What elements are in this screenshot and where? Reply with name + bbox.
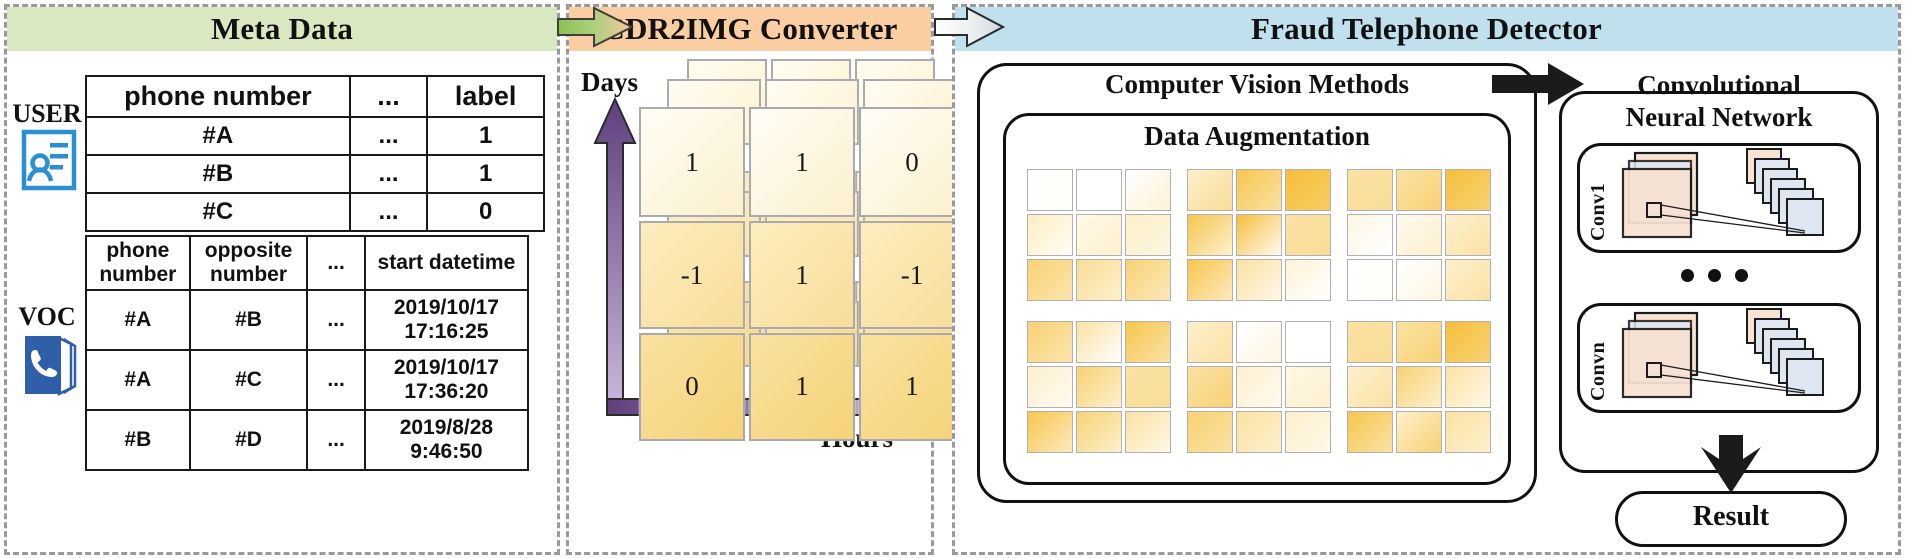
conv1-layer-diagram: [1621, 147, 1857, 249]
cell-phone-number: #C: [86, 193, 350, 231]
augmented-image-grid: [1347, 321, 1491, 453]
matrix-cell: -1: [859, 221, 965, 329]
matrix-cell: 1: [749, 333, 855, 441]
cell-phone-number: #B: [86, 410, 190, 470]
panel-fraud-telephone-detector: Fraud Telephone Detector Computer Vision…: [952, 4, 1901, 555]
cell-start-datetime: 2019/10/17 17:16:25: [365, 290, 528, 350]
user-table: phone number ... label #A ... 1 #B ... 1…: [85, 75, 545, 232]
table-header-row: phone number ... label: [86, 76, 544, 117]
detector-content: Computer Vision Methods Data Augmentatio…: [955, 51, 1904, 558]
phone-records-icon: [21, 332, 79, 398]
matrix-cell: 1: [749, 221, 855, 329]
matrix-cell-value: 1: [751, 147, 853, 178]
cell-opposite-number: #C: [190, 350, 308, 410]
panel-detector-title: Fraud Telephone Detector: [955, 7, 1898, 51]
augmented-image-grid: [1187, 169, 1331, 301]
matrix-cell-value: 0: [861, 147, 963, 178]
cell-opposite-number: #B: [190, 290, 308, 350]
arrow-converter-to-detector: [933, 6, 1005, 48]
cell-start-datetime: 2019/8/28 9:46:50: [365, 410, 528, 470]
conv1-label: Conv1: [1587, 155, 1610, 241]
result-label: Result: [1615, 501, 1847, 533]
matrix-cell-value: 1: [751, 371, 853, 402]
col-start-datetime: start datetime: [365, 236, 528, 290]
cell-ellipsis: ...: [350, 155, 428, 193]
ellipsis-dots: [1681, 269, 1748, 282]
matrix-cell-value: 0: [641, 371, 743, 402]
table-row: #A #C ... 2019/10/17 17:36:20: [86, 350, 528, 410]
cell-start-datetime: 2019/10/17 17:36:20: [365, 350, 528, 410]
convolutional-neural-network-label: Convolutional Neural Network: [1559, 69, 1879, 133]
matrix-cell-value: -1: [861, 260, 963, 291]
table-header-row: phone number opposite number ... start d…: [86, 236, 528, 290]
table-row: #A #B ... 2019/10/17 17:16:25: [86, 290, 528, 350]
cell-ellipsis: ...: [307, 290, 364, 350]
cell-label: 1: [427, 117, 544, 155]
cell-phone-number: #B: [86, 155, 350, 193]
cell-ellipsis: ...: [307, 350, 364, 410]
col-phone-number: phone number: [86, 76, 350, 117]
col-phone-number: phone number: [86, 236, 190, 290]
cell-label: 1: [427, 155, 544, 193]
voc-row-label: VOC: [9, 302, 85, 332]
arrow-meta-to-converter: [556, 6, 634, 48]
table-row: #B ... 1: [86, 155, 544, 193]
col-opposite-number: opposite number: [190, 236, 308, 290]
computer-vision-methods-label: Computer Vision Methods: [977, 69, 1537, 100]
cell-ellipsis: ...: [307, 410, 364, 470]
matrix-cell: 1: [749, 107, 855, 217]
convn-layer-diagram: [1621, 307, 1857, 409]
matrix-cell: -1: [639, 221, 745, 329]
cell-phone-number: #A: [86, 350, 190, 410]
table-row: #C ... 0: [86, 193, 544, 231]
matrix-cell: 1: [639, 107, 745, 217]
col-ellipsis: ...: [350, 76, 428, 117]
diagram-canvas: Meta Data USER phone number ... label: [0, 0, 1905, 559]
matrix-cell: 0: [859, 107, 965, 217]
panel-cdr2img-converter: CDR2IMG Converter Days Hours: [566, 4, 934, 555]
augmented-image-grid: [1027, 169, 1171, 301]
convn-label: Convn: [1587, 315, 1610, 401]
cell-ellipsis: ...: [350, 117, 428, 155]
matrix-cell-value: 1: [751, 260, 853, 291]
matrix-cell-value: 1: [641, 147, 743, 178]
black-down-arrow-icon: [1695, 435, 1767, 495]
data-augmentation-label: Data Augmentation: [1003, 121, 1511, 152]
cell-label: 0: [427, 193, 544, 231]
cell-opposite-number: #D: [190, 410, 308, 470]
matrix-cell-value: -1: [641, 260, 743, 291]
augmented-image-grid: [1187, 321, 1331, 453]
cdr-image-cube: 1 1 0 -1 1 -1: [647, 53, 937, 403]
converter-content: Days Hours: [569, 51, 937, 558]
cell-phone-number: #A: [86, 117, 350, 155]
user-card-icon: [21, 129, 77, 191]
cell-ellipsis: ...: [350, 193, 428, 231]
col-label: label: [427, 76, 544, 117]
cell-phone-number: #A: [86, 290, 190, 350]
voc-table: phone number opposite number ... start d…: [85, 235, 529, 471]
augmented-image-grid: [1347, 169, 1491, 301]
col-ellipsis: ...: [307, 236, 364, 290]
matrix-cell: 0: [639, 333, 745, 441]
panel-meta-data: Meta Data USER phone number ... label: [4, 4, 560, 555]
matrix-cell-value: 1: [861, 371, 963, 402]
panel-meta-data-title: Meta Data: [7, 7, 557, 51]
table-row: #B #D ... 2019/8/28 9:46:50: [86, 410, 528, 470]
user-row-label: USER: [9, 99, 85, 129]
table-row: #A ... 1: [86, 117, 544, 155]
matrix-cell: 1: [859, 333, 965, 441]
augmented-image-grid: [1027, 321, 1171, 453]
